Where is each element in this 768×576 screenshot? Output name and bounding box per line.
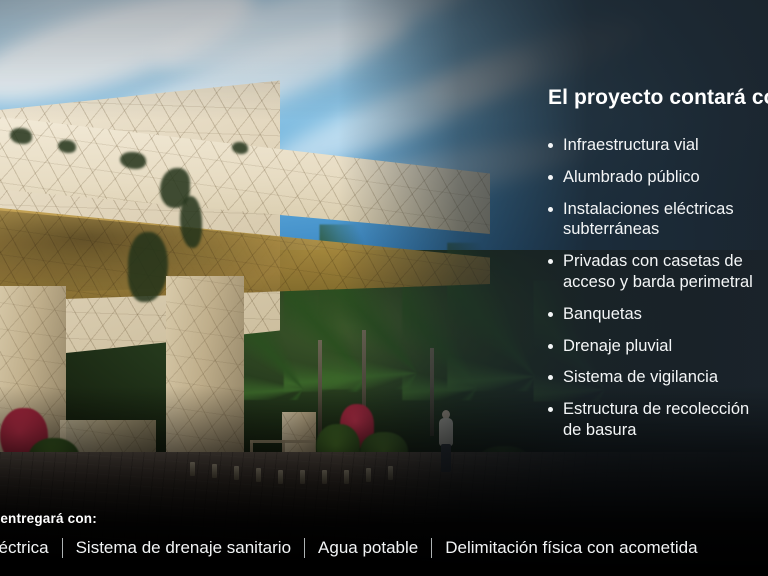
feature-list-item: Alumbrado público — [548, 167, 768, 188]
feature-list-item: Estructura de recolección de basura — [548, 399, 768, 441]
feature-list-item: Sistema de vigilancia — [548, 367, 768, 388]
footer-item-list: Energía eléctricaSistema de drenaje sani… — [0, 538, 711, 558]
footer-separator — [62, 538, 63, 558]
feature-list-item: Drenaje pluvial — [548, 336, 768, 357]
feature-list: Infraestructura vialAlumbrado públicoIns… — [548, 135, 768, 441]
feature-list-item: Banquetas — [548, 304, 768, 325]
footer-title: El terreno se entregará con: — [0, 511, 97, 526]
feature-panel: El proyecto contará con: Infraestructura… — [548, 86, 768, 452]
footer-item: Sistema de drenaje sanitario — [63, 538, 304, 558]
footer-separator — [304, 538, 305, 558]
feature-list-item: Privadas con casetas de acceso y barda p… — [548, 251, 768, 293]
presentation-slide: El proyecto contará con: Infraestructura… — [0, 0, 768, 576]
panel-title: El proyecto contará con: — [548, 86, 768, 109]
footer-item: Energía eléctrica — [0, 538, 62, 558]
feature-list-item: Instalaciones eléctricas subterráneas — [548, 199, 768, 241]
footer-separator — [431, 538, 432, 558]
feature-list-item: Infraestructura vial — [548, 135, 768, 156]
footer-item: Delimitación física con acometida — [432, 538, 710, 558]
footer-item: Agua potable — [305, 538, 431, 558]
